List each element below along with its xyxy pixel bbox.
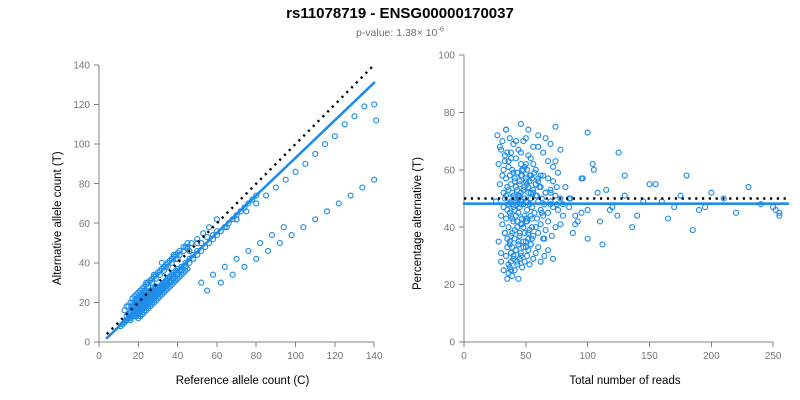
scatter-point [313, 217, 318, 222]
scatter-point [548, 141, 553, 146]
scatter-point [525, 207, 530, 212]
scatter-point [573, 213, 578, 218]
scatter-point [554, 185, 559, 190]
scatter-point [504, 216, 509, 221]
scatter-point [323, 142, 328, 147]
scatter-points [118, 102, 379, 329]
scatter-point [696, 207, 701, 212]
x-tick-label: 80 [251, 351, 263, 362]
scatter-point [269, 233, 274, 238]
scatter-point [201, 231, 206, 236]
scatter-point [303, 161, 308, 166]
scatter-point [289, 233, 294, 238]
scatter-point [495, 133, 500, 138]
scatter-point [622, 193, 627, 198]
scatter-point [734, 210, 739, 215]
scatter-point [551, 164, 556, 169]
scatter-point [525, 253, 530, 258]
scatter-point [543, 136, 548, 141]
scatter-point [499, 259, 504, 264]
scatter-point [542, 253, 547, 258]
scatter-point [563, 185, 568, 190]
scatter-point [538, 222, 543, 227]
x-tick-label: 40 [172, 351, 184, 362]
scatter-point [522, 259, 527, 264]
right-plot-svg: 020406080100050100150200250 [400, 45, 800, 400]
scatter-point [513, 248, 518, 253]
scatter-point [527, 262, 532, 267]
scatter-point [543, 228, 548, 233]
scatter-point [532, 210, 537, 215]
scatter-point [520, 265, 525, 270]
scatter-point [218, 280, 223, 285]
scatter-point [558, 222, 563, 227]
scatter-point [246, 248, 251, 253]
y-tick-label: 40 [79, 258, 91, 269]
scatter-point [254, 256, 259, 261]
y-tick-label: 0 [84, 338, 90, 349]
scatter-point [500, 139, 505, 144]
scatter-point [277, 241, 282, 246]
scatter-point [567, 205, 572, 210]
scatter-point [598, 219, 603, 224]
scatter-point [332, 134, 337, 139]
scatter-point [531, 256, 536, 261]
x-tick-label: 200 [703, 351, 720, 362]
scatter-point [538, 259, 543, 264]
scatter-point [746, 185, 751, 190]
scatter-point [264, 193, 269, 198]
scatter-point [703, 205, 708, 210]
scatter-point [496, 239, 501, 244]
x-tick-label: 20 [133, 351, 145, 362]
scatter-point [372, 102, 377, 107]
figure-title: rs11078719 - ENSG00000170037 [0, 5, 800, 22]
scatter-point [615, 213, 620, 218]
scatter-point [516, 276, 521, 281]
scatter-point [313, 151, 318, 156]
scatter-point [352, 114, 357, 119]
right-yaxis-title: Percentage alternative (T) [412, 157, 424, 290]
x-tick-label: 120 [327, 351, 344, 362]
scatter-point [266, 248, 271, 253]
scatter-point [325, 209, 330, 214]
y-tick-label: 120 [73, 100, 90, 111]
scatter-point [533, 251, 538, 256]
y-tick-label: 100 [438, 51, 455, 62]
scatter-point [585, 130, 590, 135]
scatter-point [505, 276, 510, 281]
scatter-point [528, 242, 533, 247]
figure-root: rs11078719 - ENSG00000170037 p-value: 1.… [0, 0, 800, 400]
scatter-point [555, 170, 560, 175]
left-xaxis-title: Reference allele count (C) [100, 375, 385, 387]
x-tick-label: 100 [579, 351, 596, 362]
scatter-point [591, 167, 596, 172]
y-tick-label: 80 [79, 179, 91, 190]
scatter-point [546, 210, 551, 215]
scatter-point [501, 167, 506, 172]
scatter-point [546, 248, 551, 253]
scatter-point [234, 256, 239, 261]
scatter-point [546, 159, 551, 164]
pvalue-exponent: -6 [437, 25, 444, 34]
scatter-point [526, 127, 531, 132]
scatter-point [546, 176, 551, 181]
scatter-point [507, 136, 512, 141]
scatter-point [214, 217, 219, 222]
x-tick-label: 150 [641, 351, 658, 362]
scatter-point [281, 225, 286, 230]
scatter-point [541, 150, 546, 155]
x-tick-label: 100 [287, 351, 304, 362]
scatter-point [497, 182, 502, 187]
scatter-point [205, 288, 210, 293]
pvalue-text: p-value: 1.38× 10 [356, 27, 437, 39]
scatter-point [534, 216, 539, 221]
scatter-point [560, 213, 565, 218]
scatter-point [283, 177, 288, 182]
scatter-point [336, 201, 341, 206]
scatter-point [653, 182, 658, 187]
scatter-point [496, 162, 501, 167]
scatter-point [501, 268, 506, 273]
scatter-point [553, 225, 558, 230]
x-tick-label: 0 [461, 351, 467, 362]
scatter-point [536, 133, 541, 138]
scatter-point [242, 264, 247, 269]
scatter-point [199, 280, 204, 285]
scatter-point [513, 156, 518, 161]
scatter-point [553, 159, 558, 164]
scatter-point [536, 245, 541, 250]
scatter-point [555, 207, 560, 212]
data-layer [464, 45, 788, 281]
scatter-point [585, 236, 590, 241]
scatter-point [666, 216, 671, 221]
scatter-point [585, 207, 590, 212]
scatter-point [502, 230, 507, 235]
scatter-point [560, 45, 565, 48]
x-tick-label: 140 [366, 351, 383, 362]
scatter-points [494, 45, 782, 281]
x-tick-label: 0 [96, 351, 102, 362]
scatter-point [684, 173, 689, 178]
scatter-point [504, 253, 509, 258]
scatter-point [600, 242, 605, 247]
scatter-point [543, 190, 548, 195]
scatter-point [672, 205, 677, 210]
scatter-point [690, 228, 695, 233]
scatter-point [635, 213, 640, 218]
scatter-point [293, 169, 298, 174]
scatter-point [499, 251, 504, 256]
scatter-point [647, 182, 652, 187]
scatter-point [273, 185, 278, 190]
y-tick-label: 40 [444, 223, 456, 234]
x-tick-label: 250 [765, 351, 782, 362]
figure-subtitle: p-value: 1.38× 10-6 [0, 27, 800, 39]
y-tick-label: 0 [449, 338, 455, 349]
scatter-point [500, 222, 505, 227]
scatter-point [222, 264, 227, 269]
scatter-point [372, 177, 377, 182]
scatter-point [531, 144, 536, 149]
y-tick-label: 60 [79, 219, 91, 230]
y-tick-label: 100 [73, 140, 90, 151]
scatter-point [630, 225, 635, 230]
scatter-point [546, 219, 551, 224]
y-tick-label: 80 [444, 108, 456, 119]
scatter-point [616, 150, 621, 155]
scatter-point [549, 233, 554, 238]
scatter-point [590, 162, 595, 167]
scatter-point [579, 210, 584, 215]
scatter-point [506, 225, 511, 230]
x-tick-label: 50 [520, 351, 532, 362]
data-layer [107, 65, 379, 338]
scatter-point [348, 193, 353, 198]
left-yaxis-title: Alternative allele count (T) [52, 151, 64, 285]
scatter-point [604, 187, 609, 192]
y-tick-label: 20 [79, 298, 91, 309]
regression-fit [107, 83, 374, 338]
y-tick-label: 20 [444, 280, 456, 291]
scatter-point [553, 124, 558, 129]
scatter-point [570, 230, 575, 235]
scatter-point [536, 230, 541, 235]
scatter-point [558, 147, 563, 152]
scatter-point [536, 144, 541, 149]
scatter-point [258, 241, 263, 246]
scatter-point [254, 201, 259, 206]
scatter-point [499, 213, 504, 218]
scatter-point [360, 185, 365, 190]
scatter-point [230, 272, 235, 277]
right-scatter-panel: 020406080100050100150200250 [400, 45, 800, 400]
x-tick-label: 60 [211, 351, 223, 362]
scatter-point [595, 190, 600, 195]
scatter-point [518, 121, 523, 126]
scatter-point [342, 122, 347, 127]
y-tick-label: 60 [444, 165, 456, 176]
scatter-point [551, 256, 556, 261]
scatter-point [512, 236, 517, 241]
scatter-point [301, 225, 306, 230]
scatter-point [374, 118, 379, 123]
scatter-point [362, 104, 367, 109]
scatter-point [622, 173, 627, 178]
y-tick-label: 140 [73, 60, 90, 71]
scatter-point [510, 273, 515, 278]
scatter-point [207, 225, 212, 230]
scatter-point [709, 190, 714, 195]
scatter-point [211, 272, 216, 277]
scatter-point [531, 162, 536, 167]
right-xaxis-title: Total number of reads [460, 375, 790, 387]
scatter-point [504, 127, 509, 132]
scatter-point [551, 179, 556, 184]
